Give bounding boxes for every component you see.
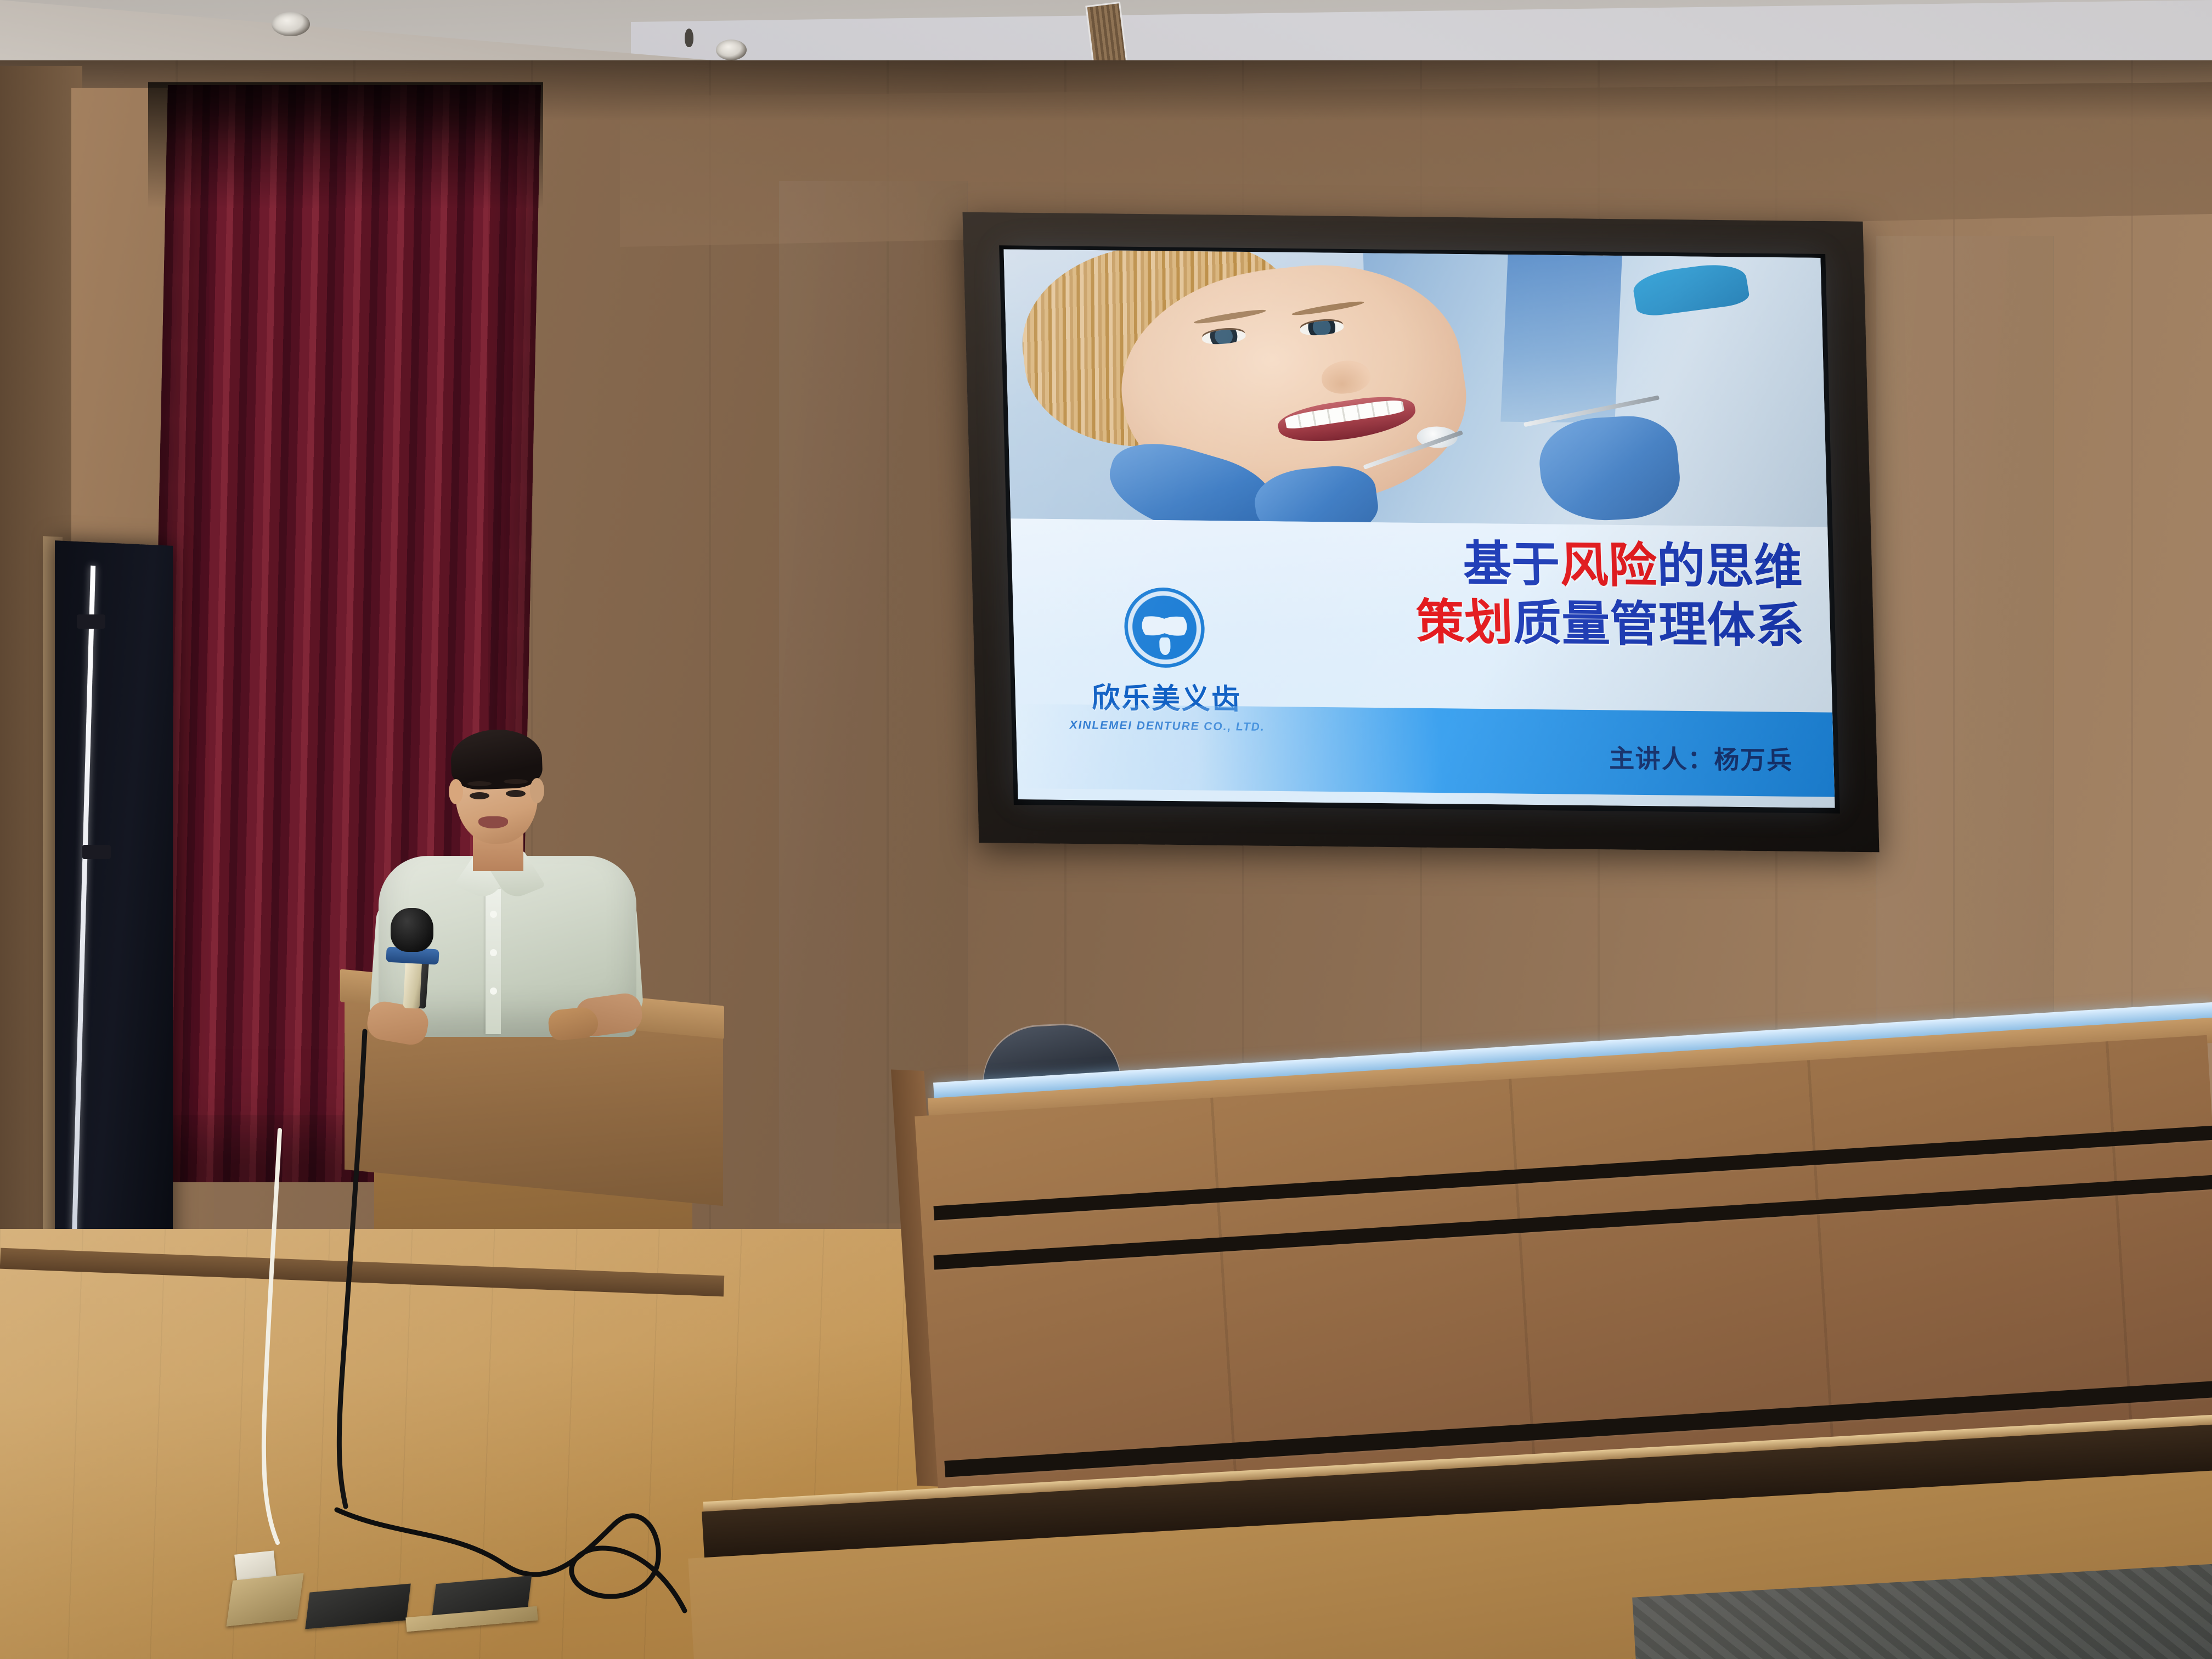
- power-cable-white: [258, 1130, 422, 1547]
- speaker-eye: [470, 792, 489, 799]
- dental-logo-icon: [1124, 588, 1206, 668]
- microphone-icon[interactable]: [391, 908, 433, 952]
- door-handle[interactable]: [77, 614, 105, 629]
- auditorium-scene: 基于风险的思维 策划质量管理体系 欣乐美义齿 XINLEMEI DENTURE …: [0, 0, 2212, 1659]
- floor-socket-box[interactable]: [226, 1573, 303, 1626]
- slide-title-block: 基于风险的思维 策划质量管理体系: [1414, 537, 1804, 653]
- speaker-shirt-button: [490, 988, 497, 995]
- stage-door[interactable]: [55, 540, 173, 1270]
- slide-title-line-2: 策划质量管理体系: [1415, 596, 1805, 653]
- ceiling-sensor-icon: [685, 29, 693, 47]
- slide-title-line-1: 基于风险的思维: [1414, 537, 1803, 594]
- speaker-eyebrow: [504, 779, 528, 784]
- speaker-eye: [506, 790, 526, 797]
- speaker-shirt-button: [490, 911, 497, 918]
- slide-body: 基于风险的思维 策划质量管理体系 欣乐美义齿 XINLEMEI DENTURE …: [1011, 519, 1835, 808]
- photo-dentist-scrubs: [1500, 255, 1622, 423]
- ceiling-downlight-icon: [716, 39, 747, 60]
- speaker-ear: [449, 779, 463, 804]
- slide-photo: [1003, 249, 1827, 527]
- presenter-credit: 主讲人：杨万兵: [1609, 738, 1793, 776]
- projection-screen[interactable]: 基于风险的思维 策划质量管理体系 欣乐美义齿 XINLEMEI DENTURE …: [1003, 249, 1835, 808]
- curtain-top-shadow: [148, 82, 543, 208]
- title-seg-jiyu: 基于: [1462, 535, 1560, 593]
- title-seg-fengxian: 风险: [1559, 537, 1657, 594]
- speaker-ear: [530, 778, 544, 803]
- speaker-eyebrow: [467, 781, 492, 786]
- door-handle[interactable]: [82, 845, 111, 859]
- ceiling-downlight-icon: [272, 12, 310, 36]
- title-seg-zhiliang: 质量管理体系: [1513, 595, 1805, 654]
- title-seg-cehua: 策划: [1415, 594, 1514, 651]
- wall-panel: [779, 181, 968, 1223]
- speaker-mouth: [478, 816, 508, 828]
- speaker-shirt-button: [490, 949, 497, 956]
- title-seg-desiwei: 的思维: [1656, 538, 1803, 596]
- microphone-body[interactable]: [403, 958, 422, 1008]
